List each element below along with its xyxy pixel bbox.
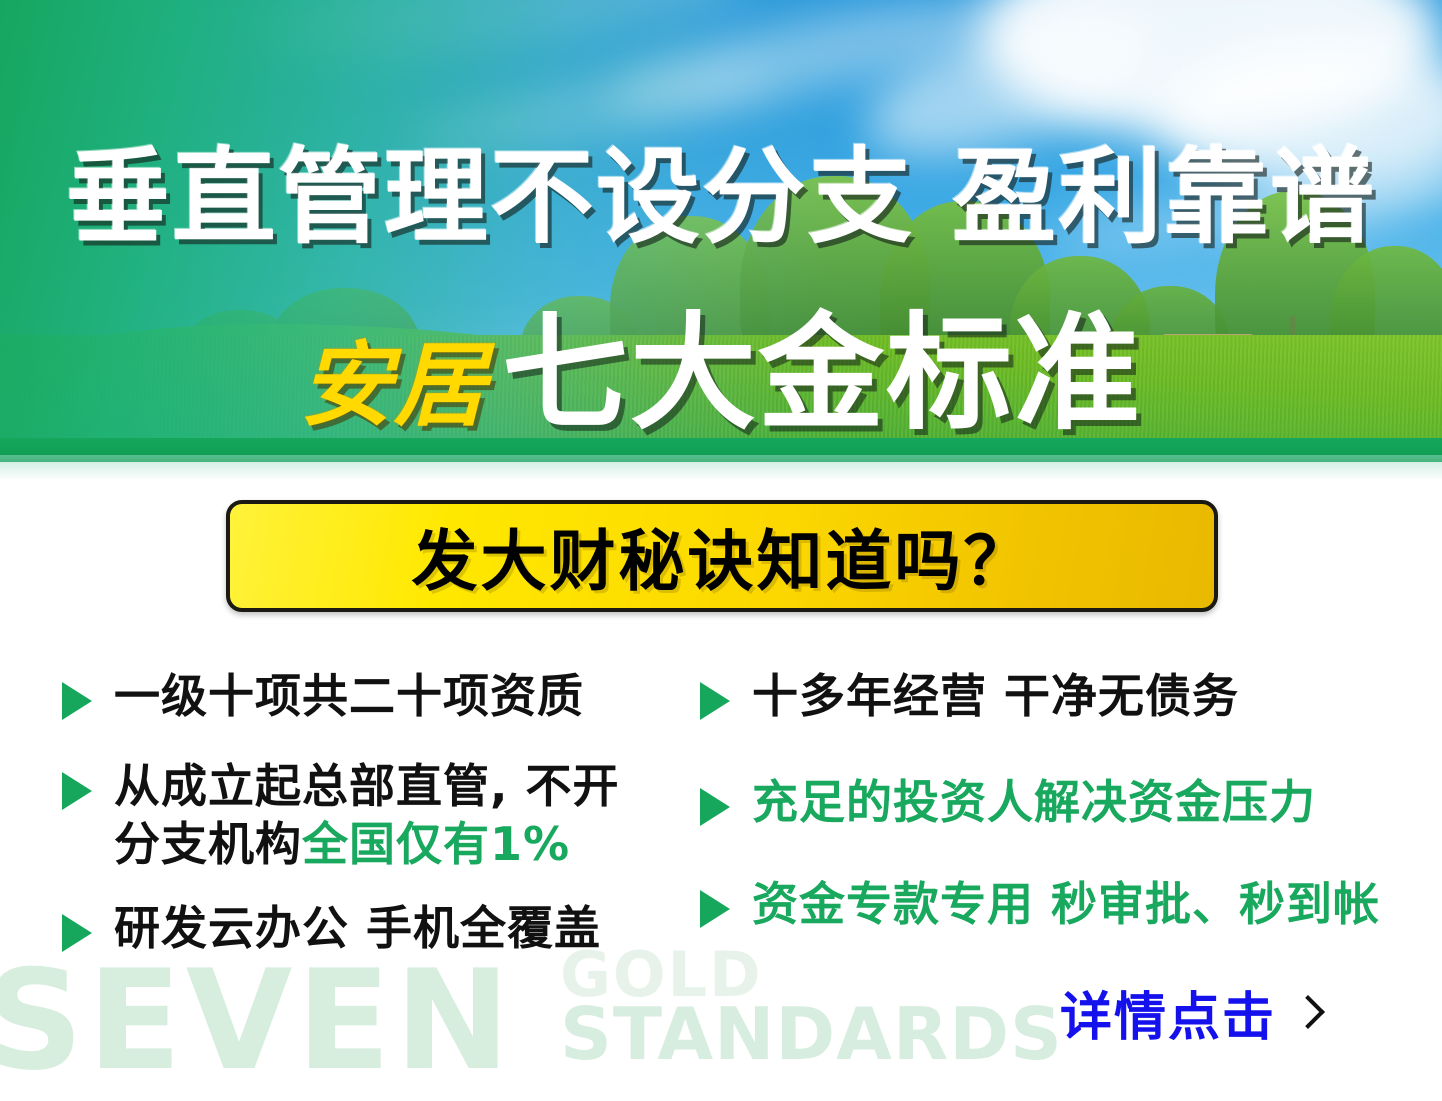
list-item: 从成立起总部直管, 不开分支机构全国仅有1% <box>62 758 702 874</box>
triangle-bullet-icon <box>62 914 92 952</box>
list-item: 十多年经营 干净无债务 <box>700 668 1420 726</box>
list-item: 一级十项共二十项资质 <box>62 668 702 726</box>
hero-banner: 垂直管理不设分支 盈利靠谱 安居七大金标准 <box>0 0 1442 462</box>
hero-headline-primary: 垂直管理不设分支 盈利靠谱 <box>0 112 1442 263</box>
triangle-bullet-icon <box>700 890 730 928</box>
promo-banner-label: 发大财秘诀知道吗？ <box>412 508 1033 604</box>
brand-prefix-text: 安居 <box>300 311 488 444</box>
list-item: 充足的投资人解决资金压力 <box>700 774 1420 832</box>
watermark-standards: STANDARDS <box>560 992 1063 1076</box>
list-item-line1: 从成立起总部直管, 不开 <box>114 759 620 813</box>
list-item-label: 十多年经营 干净无债务 <box>752 668 1239 726</box>
chevron-right-icon <box>1294 996 1316 1034</box>
list-item-label: 资金专款专用 秒审批、秒到帐 <box>752 876 1380 934</box>
details-cta-link[interactable]: 详情点击 <box>1060 975 1316 1050</box>
list-item-line2-plain: 分支机构 <box>114 817 302 871</box>
hero-headline-secondary: 七大金标准 <box>502 272 1142 454</box>
hero-headline-secondary-row: 安居七大金标准 <box>0 272 1442 454</box>
triangle-bullet-icon <box>62 682 92 720</box>
details-cta-label: 详情点击 <box>1060 975 1276 1050</box>
triangle-bullet-icon <box>700 788 730 826</box>
list-item-label: 充足的投资人解决资金压力 <box>752 774 1316 832</box>
list-item-label: 从成立起总部直管, 不开分支机构全国仅有1% <box>114 758 620 874</box>
feature-list-left: 一级十项共二十项资质 从成立起总部直管, 不开分支机构全国仅有1% 研发云办公 … <box>62 668 702 986</box>
triangle-bullet-icon <box>700 682 730 720</box>
triangle-bullet-icon <box>62 772 92 810</box>
promo-banner[interactable]: 发大财秘诀知道吗？ <box>226 500 1218 612</box>
feature-list-right: 十多年经营 干净无债务 充足的投资人解决资金压力 资金专款专用 秒审批、秒到帐 <box>700 668 1420 962</box>
list-item-line2-highlight: 全国仅有1% <box>302 817 570 871</box>
list-item-label: 一级十项共二十项资质 <box>114 668 584 726</box>
list-item-label: 研发云办公 手机全覆盖 <box>114 900 601 958</box>
list-item: 研发云办公 手机全覆盖 <box>62 900 702 958</box>
list-item: 资金专款专用 秒审批、秒到帐 <box>700 876 1420 934</box>
